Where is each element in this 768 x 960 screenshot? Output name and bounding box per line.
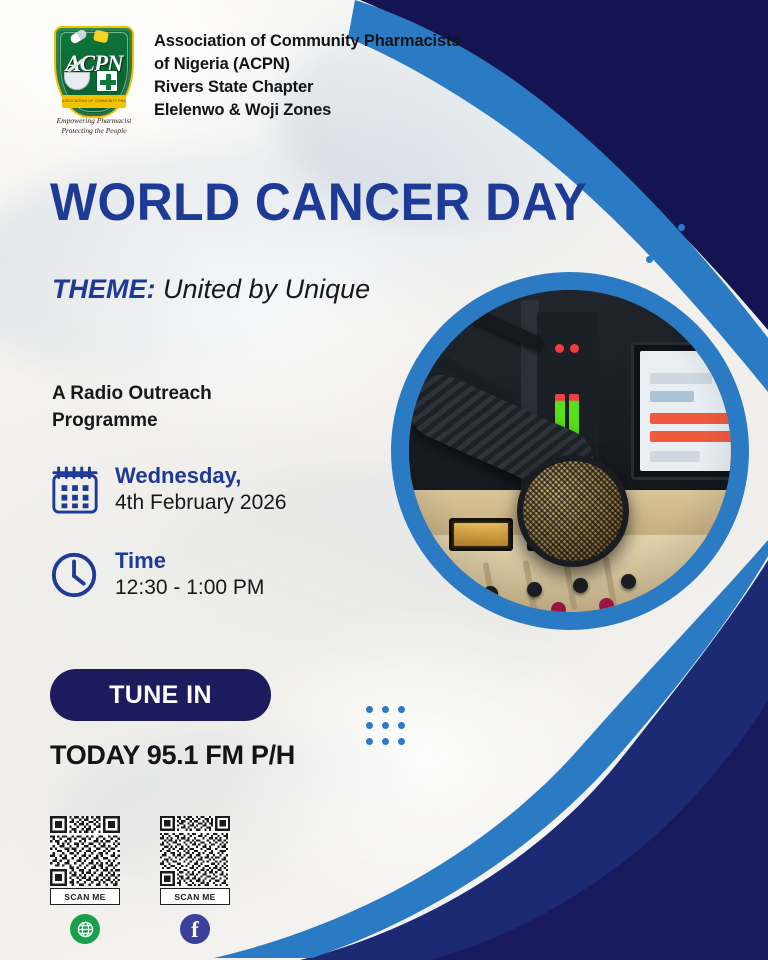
programme-description: A Radio Outreach Programme bbox=[52, 380, 302, 434]
event-date-text: Wednesday, 4th February 2026 bbox=[115, 463, 287, 517]
logo-tagline: Empowering Pharmacist Protecting the Peo… bbox=[46, 116, 142, 136]
qr-caption-facebook: SCAN ME bbox=[160, 888, 230, 905]
qr-code-area: SCAN ME bbox=[50, 816, 230, 944]
tune-in-button[interactable]: TUNE IN bbox=[50, 669, 271, 721]
organization-name: Association of Community Pharmacists of … bbox=[154, 24, 460, 122]
event-time-label: Time bbox=[115, 548, 264, 574]
facebook-glyph: f bbox=[191, 918, 199, 941]
dot-grid-bottom-center bbox=[366, 706, 405, 745]
theme-statement: THEME: United by Unique bbox=[52, 268, 382, 310]
acpn-shield-logo: ACPN ASSOCIATION OF COMMUNITY PHARMACIST… bbox=[48, 24, 140, 140]
event-time-text: Time 12:30 - 1:00 PM bbox=[115, 548, 264, 602]
station-frequency-line: TODAY 95.1 FM P/H bbox=[50, 740, 295, 771]
logo-monogram: ACPN bbox=[48, 51, 140, 77]
theme-value: United by Unique bbox=[163, 274, 370, 304]
logo-tagline-line1: Empowering Pharmacist bbox=[46, 116, 142, 126]
qr-code-facebook[interactable] bbox=[160, 816, 230, 886]
org-line-4: Elelenwo & Woji Zones bbox=[154, 99, 460, 122]
clock-icon bbox=[50, 549, 100, 601]
green-cross-icon bbox=[96, 70, 118, 92]
globe-icon[interactable] bbox=[70, 914, 100, 944]
qr-code-website[interactable] bbox=[50, 816, 120, 886]
logo-tagline-line2: Protecting the People bbox=[46, 126, 142, 136]
qr-block-facebook[interactable]: SCAN ME f bbox=[160, 816, 230, 944]
radio-studio-microphone-photo bbox=[409, 290, 731, 612]
facebook-icon[interactable]: f bbox=[180, 914, 210, 944]
poster-canvas: ACPN ASSOCIATION OF COMMUNITY PHARMACIST… bbox=[0, 0, 768, 960]
qr-block-website[interactable]: SCAN ME bbox=[50, 816, 120, 944]
org-line-2: of Nigeria (ACPN) bbox=[154, 53, 460, 76]
dot-grid-top-right bbox=[646, 224, 685, 263]
qr-caption-website: SCAN ME bbox=[50, 888, 120, 905]
event-time-range: 12:30 - 1:00 PM bbox=[115, 574, 264, 602]
photo-vignette bbox=[409, 290, 731, 612]
logo-band-text: ASSOCIATION OF COMMUNITY PHARMACISTS OF … bbox=[62, 95, 126, 108]
poster-header: ACPN ASSOCIATION OF COMMUNITY PHARMACIST… bbox=[48, 24, 460, 140]
event-day: Wednesday, bbox=[115, 463, 287, 489]
org-line-3: Rivers State Chapter bbox=[154, 76, 460, 99]
theme-label: THEME: bbox=[52, 274, 163, 304]
event-time-row: Time 12:30 - 1:00 PM bbox=[50, 548, 264, 602]
page-title: WORLD CANCER DAY bbox=[50, 176, 587, 229]
photo-knob-2 bbox=[443, 590, 458, 605]
programme-line-2: Programme bbox=[52, 407, 302, 434]
org-line-1: Association of Community Pharmacists bbox=[154, 30, 460, 53]
event-date-row: Wednesday, 4th February 2026 bbox=[50, 463, 287, 517]
event-full-date: 4th February 2026 bbox=[115, 489, 287, 517]
calendar-icon bbox=[50, 464, 100, 516]
programme-line-1: A Radio Outreach bbox=[52, 380, 302, 407]
